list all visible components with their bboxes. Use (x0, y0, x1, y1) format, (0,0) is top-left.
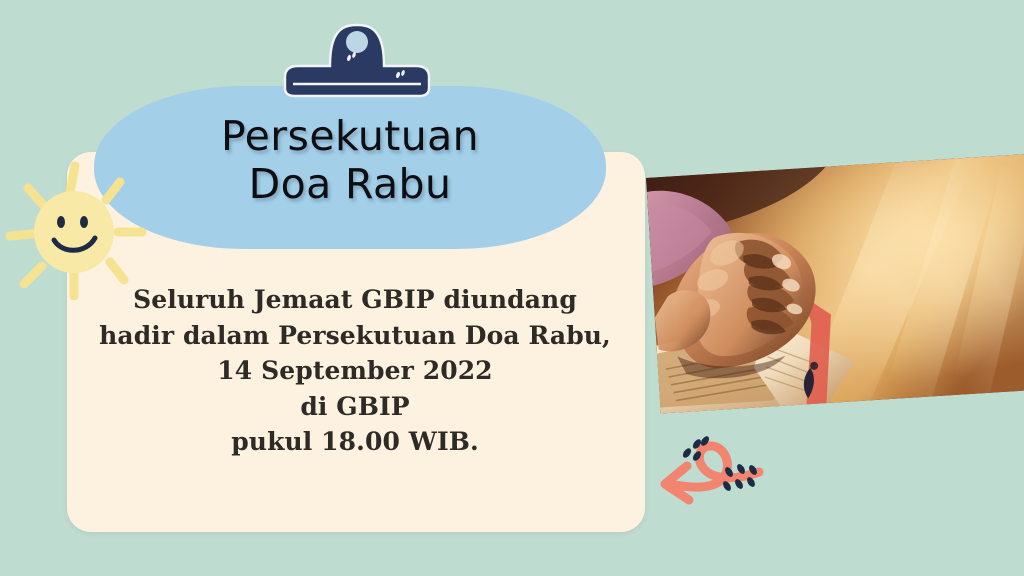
binder-clip-icon (283, 22, 431, 98)
curved-left-arrow-icon (657, 428, 775, 508)
title-line-2: Doa Rabu (94, 160, 606, 208)
title-banner: Persekutuan Doa Rabu (94, 86, 606, 249)
body-line-5: pukul 18.00 WIB. (75, 424, 635, 460)
body-line-2: hadir dalam Persekutuan Doa Rabu, (75, 318, 635, 354)
poster-canvas: Persekutuan Doa Rabu (0, 0, 1024, 576)
smiling-sun-icon (2, 148, 152, 300)
praying-hands-illustration (646, 153, 1024, 413)
invitation-body: Seluruh Jemaat GBIP diundang hadir dalam… (75, 282, 635, 460)
body-line-3: 14 September 2022 (75, 353, 635, 389)
praying-hands-photo (646, 153, 1024, 413)
title-line-1: Persekutuan (94, 112, 606, 160)
body-line-1: Seluruh Jemaat GBIP diundang (75, 282, 635, 318)
body-line-4: di GBIP (75, 389, 635, 425)
page-title: Persekutuan Doa Rabu (94, 112, 606, 209)
